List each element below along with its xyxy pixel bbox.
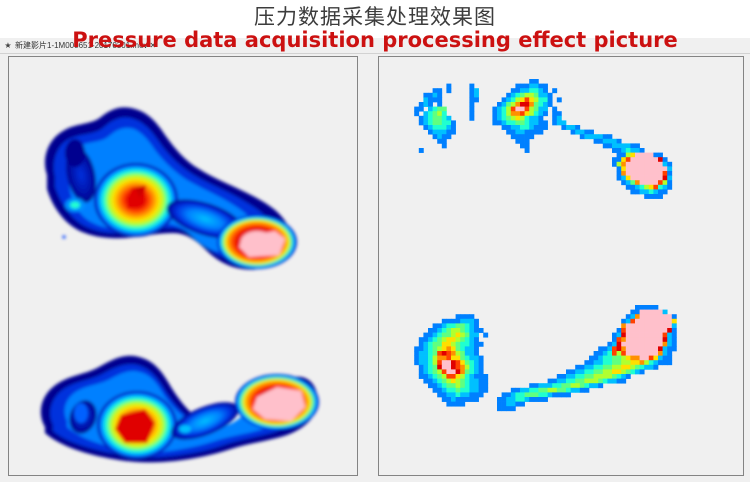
pixel-heatmap-svg — [379, 57, 743, 475]
contour-heatmap-svg — [9, 57, 357, 475]
pixel-plot-area[interactable] — [379, 57, 743, 475]
panel-2d-raw[interactable]: 2D图 — [378, 56, 744, 476]
page-title-chinese: 压力数据采集处理效果图 — [0, 1, 750, 31]
contour-plot-area[interactable] — [9, 57, 357, 475]
application-window: ★ 新建影片1-1M000651-20170301.mov ✕ 2D轮廓图 — [0, 38, 750, 482]
panel-2d-contour[interactable]: 2D轮廓图 — [8, 56, 358, 476]
page-title-english: Pressure data acquisition processing eff… — [0, 28, 750, 52]
